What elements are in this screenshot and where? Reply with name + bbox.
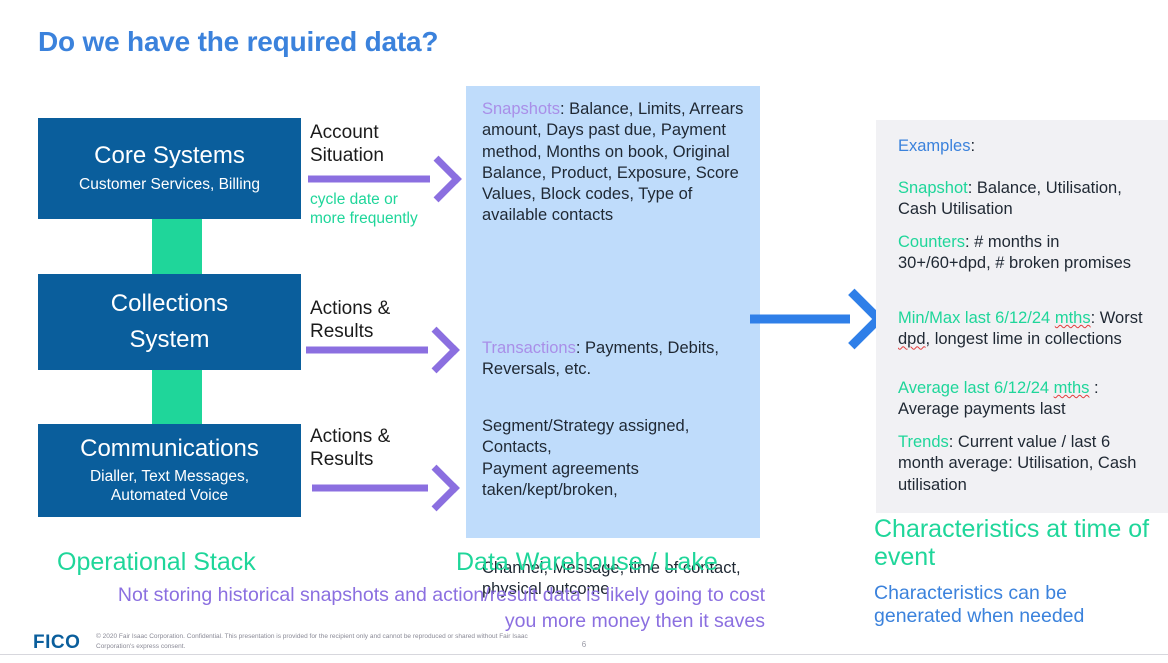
page-title: Do we have the required data? <box>38 26 438 58</box>
stack-box-title: Core Systems <box>94 142 245 170</box>
caption-characteristics: Characteristics at time of event <box>874 515 1154 571</box>
ch-keyword-snapshot: Snapshot <box>898 179 968 197</box>
ch-block-trends: Trends: Current value / last 6 month ave… <box>898 432 1156 496</box>
ch-keyword-examples: Examples <box>898 137 970 155</box>
ch-block-examples: Examples: <box>898 136 1156 157</box>
arrow-right-icon <box>306 329 454 371</box>
dw-block-transactions: Transactions: Payments, Debits, Reversal… <box>482 338 748 381</box>
ch-keyword-trends: Trends <box>898 433 949 451</box>
dw-keyword-transactions: Transactions <box>482 339 576 357</box>
caption-data-warehouse: Data Warehouse / Lake <box>456 548 718 577</box>
stack-box-core-systems: Core Systems Customer Services, Billing <box>38 118 301 219</box>
ch-block-min-max: Min/Max last 6/12/24 mths: Worst dpd, lo… <box>898 308 1156 351</box>
stack-box-collections-system: Collections System <box>38 274 301 370</box>
ch-block-snapshot: Snapshot: Balance, Utilisation, Cash Uti… <box>898 178 1156 221</box>
footer-divider <box>0 654 1168 655</box>
dw-text-snapshots: : Balance, Limits, Arrears amount, Days … <box>482 100 743 224</box>
flow-label-actions-results-2: Actions & Results <box>310 425 390 471</box>
arrow-right-icon <box>750 290 878 348</box>
dw-keyword-snapshots: Snapshots <box>482 100 560 118</box>
arrow-right-icon <box>312 467 454 509</box>
stack-box-title: Communications <box>80 435 259 463</box>
ch-keyword-min-max: Min/Max last 6/12/24 mths <box>898 309 1091 327</box>
stack-box-communications: Communications Dialler, Text Messages, A… <box>38 424 301 517</box>
dw-block-snapshots: Snapshots: Balance, Limits, Arrears amou… <box>482 99 748 227</box>
arrow-right-icon <box>308 158 456 200</box>
stack-box-subtitle: Dialler, Text Messages, Automated Voice <box>90 468 249 506</box>
slide-canvas: Do we have the required data? Core Syste… <box>0 0 1168 663</box>
stack-box-title: Collections System <box>111 286 228 358</box>
ch-text-examples: : <box>970 137 975 155</box>
stack-connector-2 <box>152 370 202 424</box>
stack-box-subtitle: Customer Services, Billing <box>79 176 260 195</box>
caption-operational-stack: Operational Stack <box>57 548 256 577</box>
ch-keyword-counters: Counters <box>898 233 965 251</box>
characteristics-panel: Examples: Snapshot: Balance, Utilisation… <box>876 120 1168 513</box>
ch-block-average: Average last 6/12/24 mths : Average paym… <box>898 378 1156 421</box>
data-warehouse-panel: Snapshots: Balance, Limits, Arrears amou… <box>466 86 760 538</box>
dw-block-segment-strategy: Segment/Strategy assigned, Contacts, Pay… <box>482 416 748 501</box>
ch-keyword-average: Average last 6/12/24 mths <box>898 379 1089 397</box>
caption-warning-note: Not storing historical snapshots and act… <box>115 582 765 634</box>
stack-connector-1 <box>152 219 202 275</box>
page-number: 6 <box>0 640 1168 649</box>
caption-characteristics-sub: Characteristics can be generated when ne… <box>874 582 1154 629</box>
ch-block-counters: Counters: # months in 30+/60+dpd, # brok… <box>898 232 1156 275</box>
